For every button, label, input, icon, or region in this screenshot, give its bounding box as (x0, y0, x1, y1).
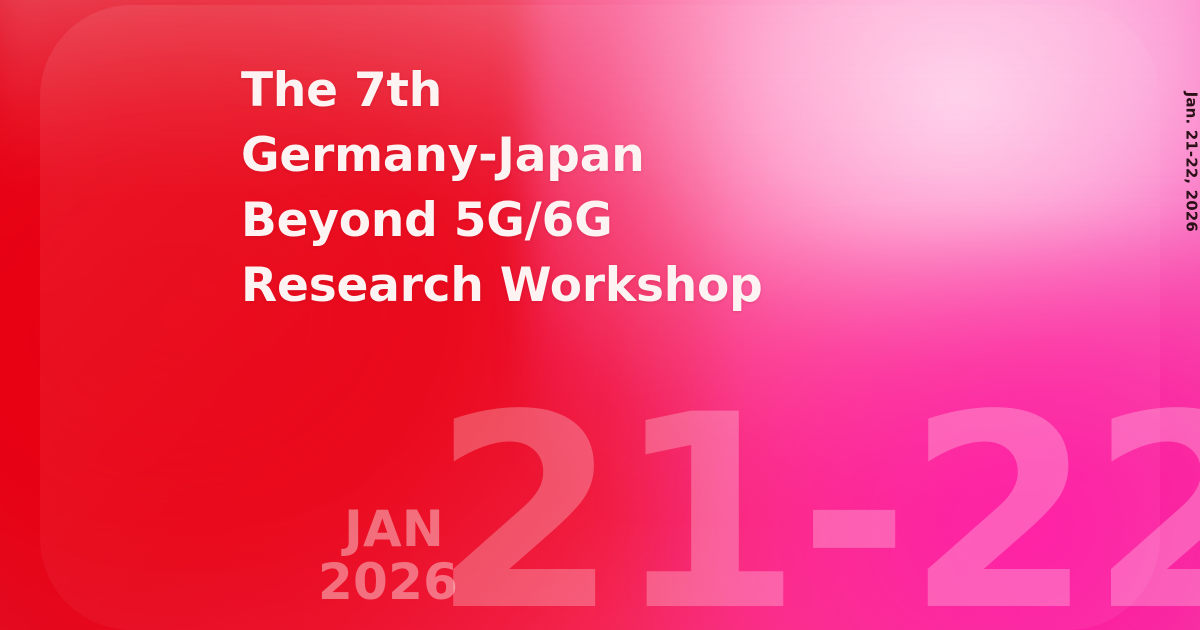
title-line-1: The 7th (241, 58, 763, 123)
side-date-label: Jan. 21-22, 2026 (1182, 92, 1200, 232)
watermark-month: JAN (318, 503, 444, 556)
title-line-3: Beyond 5G/6G (241, 188, 763, 253)
title-line-4: Research Workshop (241, 253, 763, 318)
workshop-banner: 21-22 JAN 2026 The 7th Germany-Japan Bey… (0, 0, 1200, 630)
big-date-watermark: 21-22 (432, 410, 1200, 619)
title-line-2: Germany-Japan (241, 123, 763, 188)
watermark-year: 2026 (318, 556, 444, 609)
month-year-watermark: JAN 2026 (318, 503, 444, 608)
page-title: The 7th Germany-Japan Beyond 5G/6G Resea… (241, 58, 763, 318)
